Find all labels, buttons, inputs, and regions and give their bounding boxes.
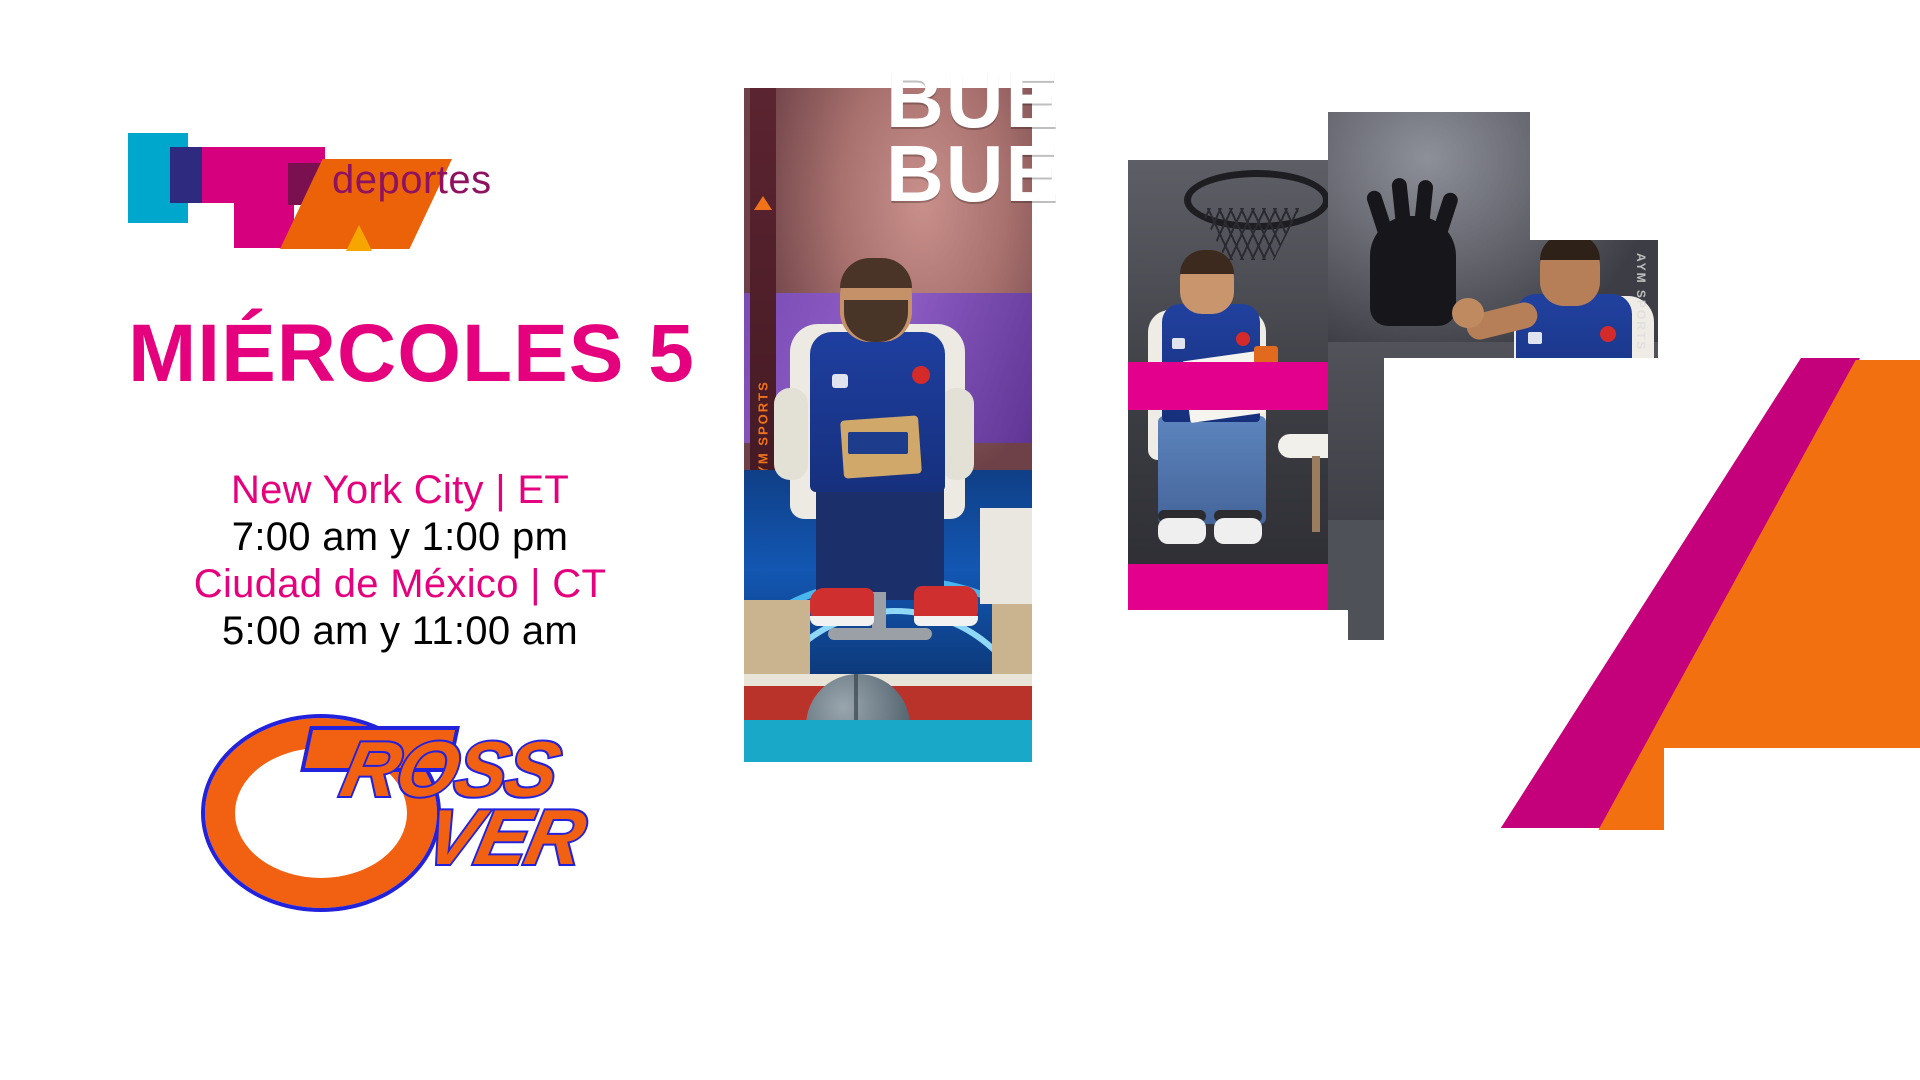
accent-magenta-bar-lower (1128, 564, 1328, 610)
schedule-line-time-cdmx: 5:00 am y 11:00 am (20, 611, 780, 651)
overlay-text-line-2: BUE (886, 137, 1061, 211)
photo-a-clipboard-label (848, 432, 908, 454)
schedule-line-city-ny: New York City | ET (20, 470, 780, 510)
accent-magenta-bar-upper (1128, 362, 1328, 410)
photo-collage: AYM SPORTS (744, 0, 1920, 1080)
photo-c-person-hand (1452, 298, 1484, 328)
photo-b-shirt-badge-red (1236, 332, 1250, 346)
photo-a-chair-base (828, 628, 932, 640)
logo-indigo-block-icon (170, 147, 202, 203)
brand-sub-label: deportes (332, 160, 492, 200)
photo-c-watermark: AYM SPORTS (1630, 242, 1652, 362)
photo-c-shirt-badge-white (1528, 332, 1542, 344)
photo-a-basketball-seam-v (854, 674, 858, 720)
schedule-line-city-cdmx: Ciudad de México | CT (20, 564, 780, 604)
photo-b-person-jeans (1158, 416, 1266, 524)
photo-a-shoe-right-sole (914, 616, 978, 626)
promo-graphic: deportes MIÉRCOLES 5 New York City | ET … (0, 0, 1920, 1080)
photo-b-shoe-right (1214, 518, 1262, 544)
photo-a-shirt-badge-red (912, 366, 930, 384)
overlay-text-line-1: BUE (886, 63, 1061, 137)
collage-white-block-bottom-right (1664, 748, 1920, 1080)
schedule-block: New York City | ET 7:00 am y 1:00 pm Ciu… (0, 470, 780, 658)
photo-a-person-pants (816, 480, 944, 600)
photo-b-table-leg (1312, 456, 1320, 532)
schedule-line-time-ny: 7:00 am y 1:00 pm (20, 517, 780, 557)
photo-a-shoe-left-sole (810, 616, 874, 626)
photo-a-triangle-icon-top (754, 196, 772, 210)
photo-a-shirt-badge-white (832, 374, 848, 388)
accent-cyan-bar (744, 720, 1032, 762)
photo-a-side-table (980, 508, 1032, 604)
page-title: MIÉRCOLES 5 (128, 313, 728, 395)
collage-white-block-top (1530, 0, 1920, 240)
photo-b-shirt-badge-white (1172, 338, 1185, 349)
photo-a-chair-arm-left (774, 388, 808, 480)
overlay-text-buebue: BUE BUE (886, 63, 1061, 210)
left-info-panel: deportes MIÉRCOLES 5 New York City | ET … (0, 0, 780, 1080)
photo-c-shirt-badge-red (1600, 326, 1616, 342)
photo-b-shoe-left (1158, 518, 1206, 544)
collage-white-block-center (1128, 610, 1348, 1080)
crossover-show-logo: ROSS VER (205, 718, 595, 908)
photo-a-chair-arm-right (940, 388, 974, 480)
photo-b-side-table (1278, 434, 1328, 458)
